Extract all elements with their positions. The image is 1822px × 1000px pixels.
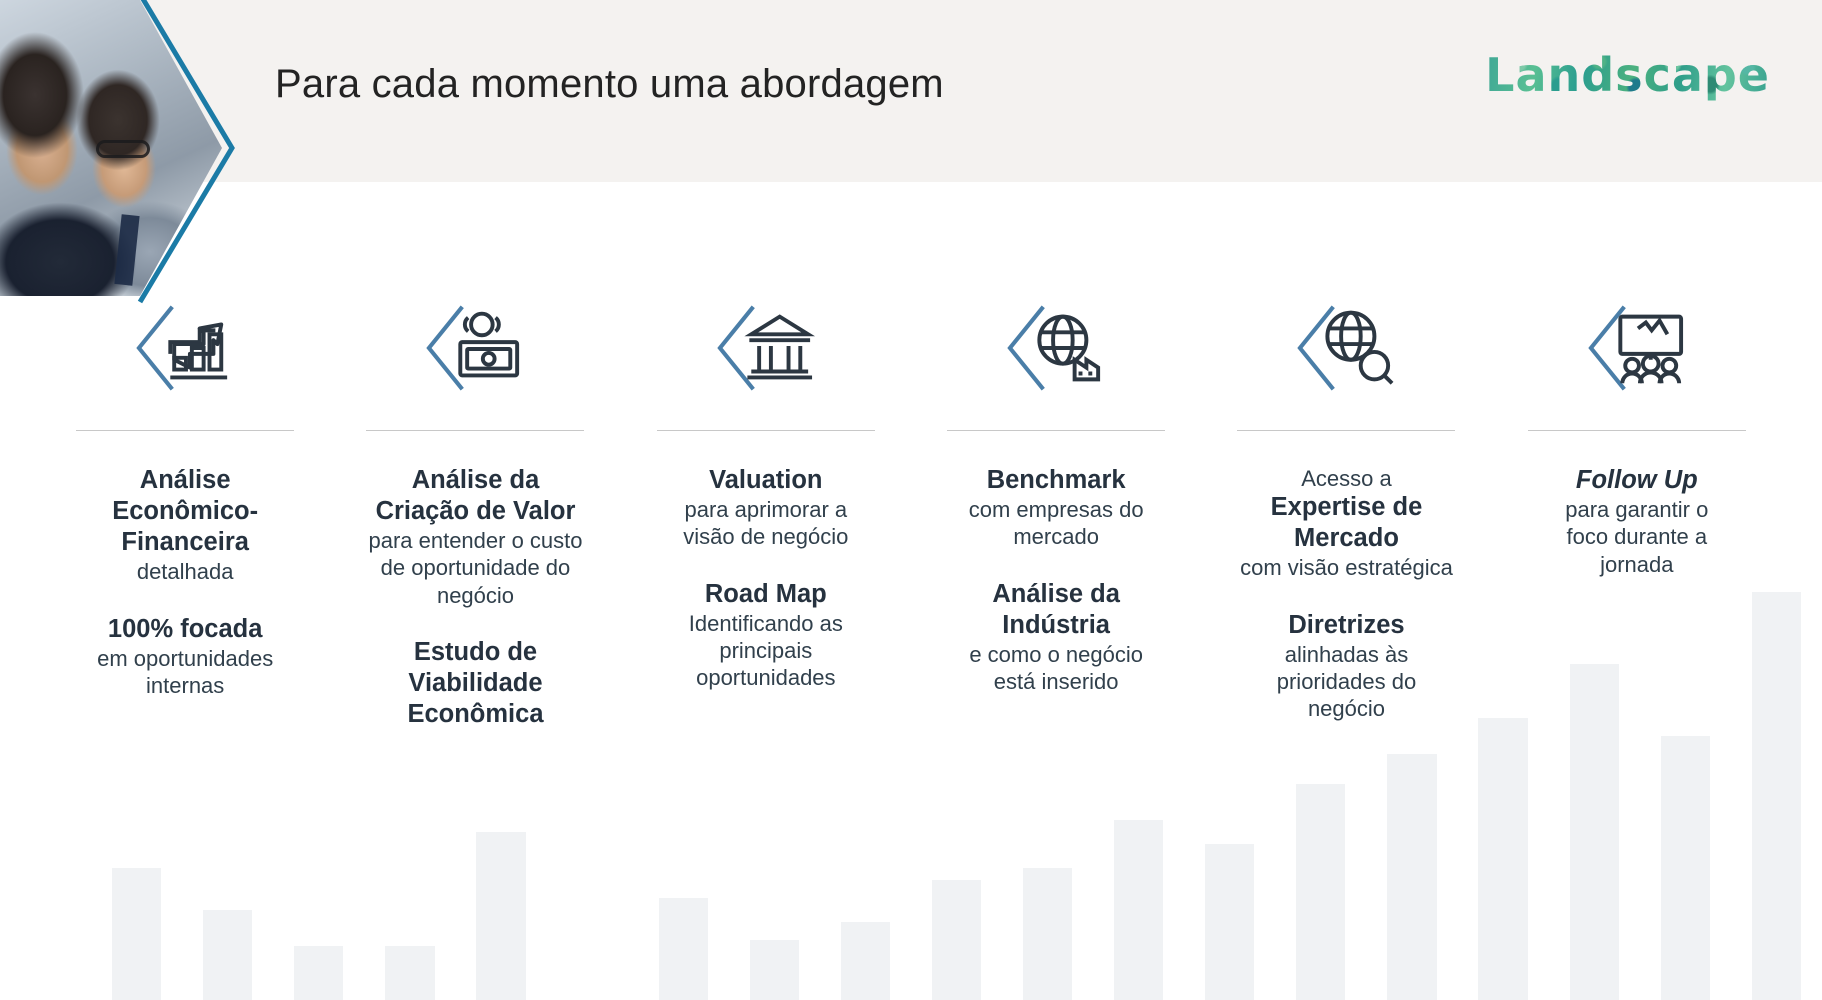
block-prefix: Acesso a [1211, 465, 1481, 492]
block-subtext: e como o negócioestá inserido [921, 641, 1191, 696]
service-block: Diretrizesalinhadas àsprioridades donegó… [1211, 610, 1481, 723]
block-subtext: em oportunidadesinternas [50, 645, 320, 700]
chart-bar [1478, 718, 1527, 1000]
service-column-2: Análise daCriação de Valorpara entender … [330, 292, 620, 730]
block-heading: Road Map [631, 579, 901, 610]
block-subtext: Identificando asprincipaisoportunidades [631, 610, 901, 692]
chart-bar [1023, 868, 1072, 1000]
column-body: Benchmarkcom empresas domercadoAnálise d… [921, 465, 1191, 695]
globe-magnifier-icon [1292, 292, 1400, 404]
slide-root: Para cada momento uma abordagem Landscap… [0, 0, 1822, 1000]
column-body: Valuationpara aprimorar avisão de negóci… [631, 465, 901, 692]
column-body: Acesso aExpertise deMercadocom visão est… [1211, 465, 1481, 723]
chart-bar [659, 898, 708, 1000]
chart-bar [294, 946, 343, 1000]
block-heading: Análise daCriação de Valor [340, 465, 610, 527]
bank-building-icon [712, 292, 820, 404]
block-heading: Expertise deMercado [1211, 492, 1481, 554]
block-heading: Benchmark [921, 465, 1191, 496]
service-block: Follow Uppara garantir ofoco durante ajo… [1502, 465, 1772, 578]
chart-bar [1205, 844, 1254, 1000]
service-block: Análise daIndústriae como o negócioestá … [921, 579, 1191, 696]
block-heading: Análise daIndústria [921, 579, 1191, 641]
service-block: Road MapIdentificando asprincipaisoportu… [631, 579, 901, 692]
column-body: AnáliseEconômico-Financeiradetalhada100%… [50, 465, 320, 699]
column-divider [1528, 430, 1746, 431]
chart-bar [750, 940, 799, 1000]
service-block: Acesso aExpertise deMercadocom visão est… [1211, 465, 1481, 582]
block-heading: Diretrizes [1211, 610, 1481, 641]
service-block: AnáliseEconômico-Financeiradetalhada [50, 465, 320, 586]
block-subtext: para entender o custode oportunidade don… [340, 527, 610, 609]
block-subtext: com visão estratégica [1211, 554, 1481, 581]
column-divider [657, 430, 875, 431]
column-body: Follow Uppara garantir ofoco durante ajo… [1502, 465, 1772, 578]
column-divider [1237, 430, 1455, 431]
chart-bar [1661, 736, 1710, 1000]
service-block: Valuationpara aprimorar avisão de negóci… [631, 465, 901, 551]
service-column-3: Valuationpara aprimorar avisão de negóci… [621, 292, 911, 730]
service-block: Benchmarkcom empresas domercado [921, 465, 1191, 551]
block-heading: Estudo deViabilidadeEconômica [340, 637, 610, 730]
block-heading: Valuation [631, 465, 901, 496]
column-divider [366, 430, 584, 431]
money-cash-icon [421, 292, 529, 404]
service-block: Estudo deViabilidadeEconômica [340, 637, 610, 730]
block-subtext: com empresas domercado [921, 496, 1191, 551]
presentation-team-icon [1583, 292, 1691, 404]
page-title: Para cada momento uma abordagem [275, 62, 944, 107]
service-column-5: Acesso aExpertise deMercadocom visão est… [1201, 292, 1491, 730]
chart-bar [841, 922, 890, 1000]
service-columns: AnáliseEconômico-Financeiradetalhada100%… [40, 292, 1782, 730]
service-column-6: Follow Uppara garantir ofoco durante ajo… [1492, 292, 1782, 730]
block-heading: 100% focada [50, 614, 320, 645]
block-subtext: alinhadas àsprioridades donegócio [1211, 641, 1481, 723]
growth-chart-icon [131, 292, 239, 404]
block-subtext: para garantir ofoco durante ajornada [1502, 496, 1772, 578]
column-body: Análise daCriação de Valorpara entender … [340, 465, 610, 730]
block-subtext: para aprimorar avisão de negócio [631, 496, 901, 551]
chart-bar [1387, 754, 1436, 1000]
service-column-1: AnáliseEconômico-Financeiradetalhada100%… [40, 292, 330, 730]
chart-bar [203, 910, 252, 1000]
column-divider [947, 430, 1165, 431]
chart-bar [112, 868, 161, 1000]
service-block: 100% focadaem oportunidadesinternas [50, 614, 320, 700]
block-heading: Follow Up [1502, 465, 1772, 496]
service-column-4: Benchmarkcom empresas domercadoAnálise d… [911, 292, 1201, 730]
chart-bar [476, 832, 525, 1000]
landscape-logo: Landscape [1485, 48, 1770, 102]
block-subtext: detalhada [50, 558, 320, 585]
globe-factory-icon [1002, 292, 1110, 404]
chart-bar [932, 880, 981, 1000]
eyeglasses-detail [96, 140, 150, 158]
service-block: Análise daCriação de Valorpara entender … [340, 465, 610, 609]
chart-bar [1296, 784, 1345, 1000]
column-divider [76, 430, 294, 431]
block-heading: AnáliseEconômico-Financeira [50, 465, 320, 558]
chart-bar [385, 946, 434, 1000]
chart-bar [1114, 820, 1163, 1000]
